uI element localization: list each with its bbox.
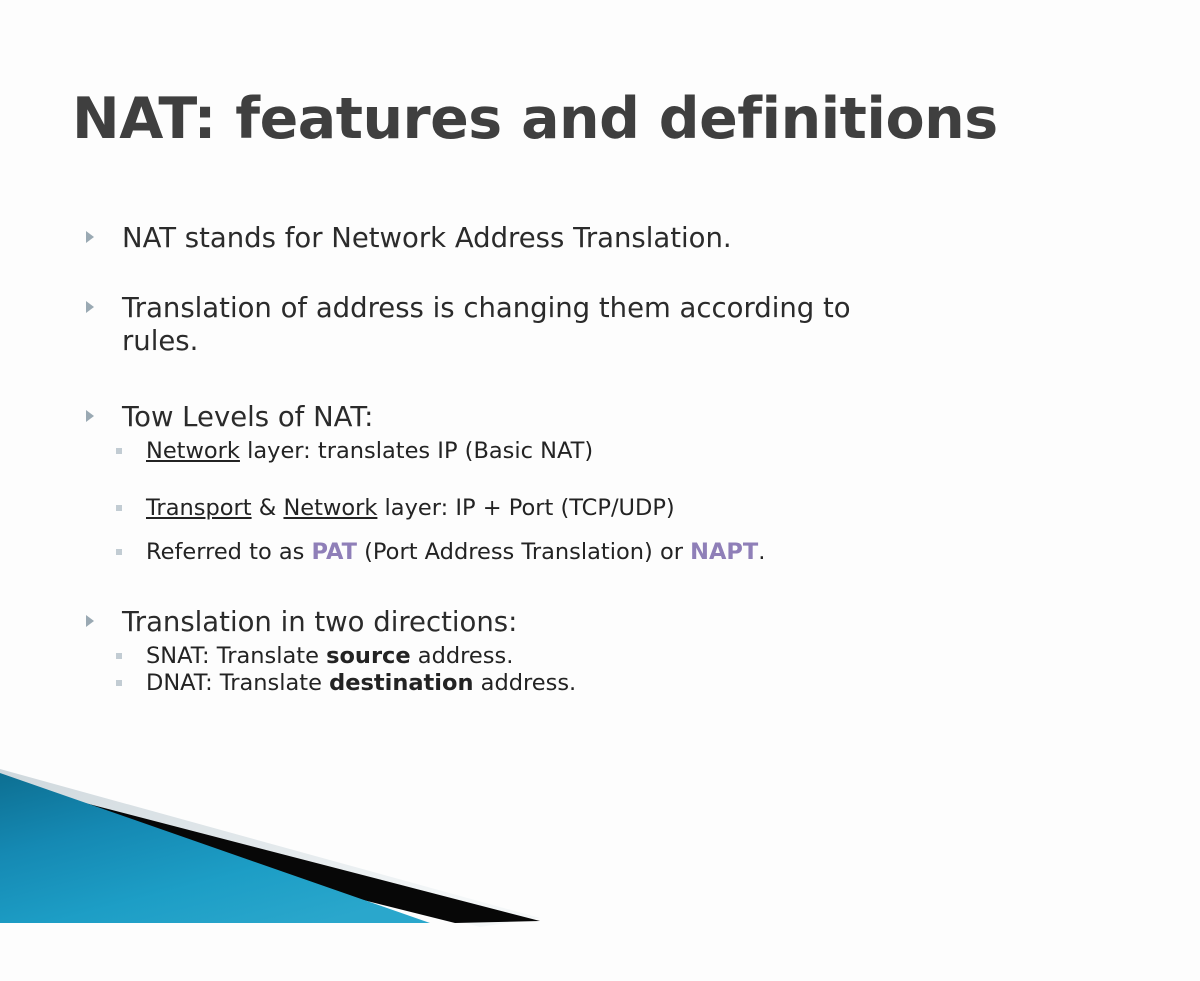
spacer <box>82 361 1102 401</box>
arrow-bullet-icon <box>86 301 94 313</box>
spacer <box>82 465 1102 495</box>
slide-body: NAT stands for Network Address Translati… <box>82 222 1102 697</box>
sub-bullet-underlined-term-a: Transport <box>146 495 252 521</box>
bullet-item-nat-stands-for: NAT stands for Network Address Translati… <box>82 222 1102 254</box>
square-bullet-icon <box>116 549 122 555</box>
spacer <box>82 523 1102 539</box>
bullet-item-tow-levels-of-nat: Tow Levels of NAT: <box>82 401 1102 433</box>
emphasis-source: source <box>326 643 411 669</box>
sub-bullet-text: layer: IP + Port (TCP/UDP) <box>377 495 674 521</box>
decoration-gray-sliver <box>0 769 540 927</box>
accent-term-napt: NAPT <box>690 539 758 565</box>
bullet-text: Translation in two directions: <box>122 606 517 638</box>
sub-bullet-transport-network-layer: Transport & Network layer: IP + Port (TC… <box>110 495 1102 522</box>
sub-bullet-text: layer: translates IP (Basic NAT) <box>240 438 593 464</box>
sub-bullet-text-post: address. <box>474 670 577 696</box>
slide: NAT: features and definitions NAT stands… <box>0 0 1200 981</box>
sub-bullet-text-post: address. <box>411 643 514 669</box>
slide-title: NAT: features and definitions <box>72 86 998 152</box>
sub-bullet-text-mid: (Port Address Translation) or <box>357 539 690 565</box>
sub-bullet-referred-to-as-pat: Referred to as PAT (Port Address Transla… <box>110 539 1102 566</box>
sub-bullet-dnat: DNAT: Translate destination address. <box>110 670 1102 697</box>
arrow-bullet-icon <box>86 615 94 627</box>
bullet-item-translation-two-directions: Translation in two directions: <box>82 606 1102 638</box>
decoration-black-wedge <box>0 781 540 923</box>
sub-bullet-network-layer: Network layer: translates IP (Basic NAT) <box>110 438 1102 465</box>
decoration-teal-triangle <box>0 773 430 923</box>
emphasis-destination: destination <box>329 670 473 696</box>
sub-bullet-underlined-term-b: Network <box>283 495 377 521</box>
bullet-text: Tow Levels of NAT: <box>122 401 373 433</box>
bullet-text-line1: Translation of address is changing them … <box>122 292 851 324</box>
sub-bullet-text-pre: SNAT: Translate <box>146 643 326 669</box>
sub-bullet-text-pre: DNAT: Translate <box>146 670 329 696</box>
square-bullet-icon <box>116 653 122 659</box>
corner-decoration <box>0 755 620 935</box>
sub-bullet-underlined-term: Network <box>146 438 240 464</box>
sub-bullet-snat: SNAT: Translate source address. <box>110 643 1102 670</box>
arrow-bullet-icon <box>86 231 94 243</box>
square-bullet-icon <box>116 448 122 454</box>
square-bullet-icon <box>116 680 122 686</box>
sub-bullet-text-post: . <box>758 539 765 565</box>
spacer <box>82 258 1102 292</box>
spacer <box>82 566 1102 606</box>
accent-term-pat: PAT <box>312 539 357 565</box>
corner-decoration-svg <box>0 755 620 935</box>
sub-bullet-separator: & <box>252 495 284 521</box>
bullet-item-translation-of-address: Translation of address is changing them … <box>82 292 1102 357</box>
bullet-text: NAT stands for Network Address Translati… <box>122 222 732 254</box>
sub-bullet-text-pre: Referred to as <box>146 539 312 565</box>
arrow-bullet-icon <box>86 410 94 422</box>
square-bullet-icon <box>116 505 122 511</box>
bullet-text-line2: rules. <box>122 325 198 357</box>
